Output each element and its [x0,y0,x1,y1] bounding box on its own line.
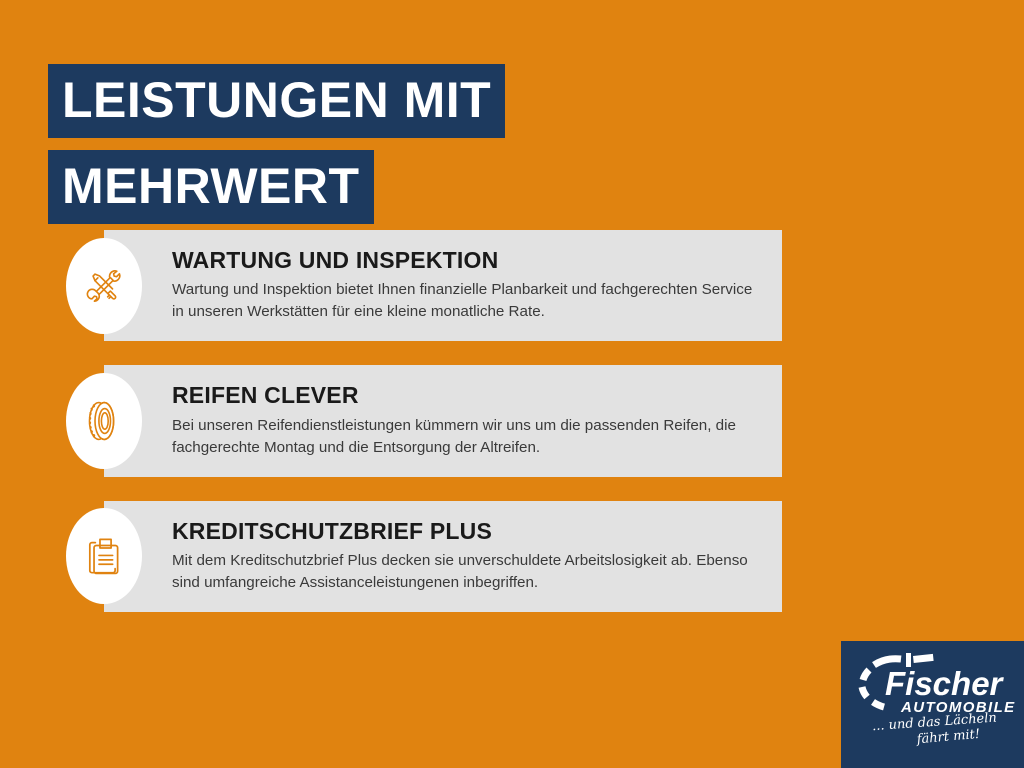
card-title: KREDITSCHUTZBRIEF PLUS [172,519,756,544]
slide-canvas: LEISTUNGEN MIT MEHRWERT [0,0,1024,768]
card-title: REIFEN CLEVER [172,383,756,408]
card-text: Mit dem Kreditschutzbrief Plus decken si… [172,550,756,594]
company-logo[interactable]: Fischer AUTOMOBILE ... und das Lächeln f… [841,641,1024,768]
card-title: WARTUNG UND INSPEKTION [172,248,756,273]
logo-brand-text: Fischer [885,665,1005,702]
service-card[interactable]: KREDITSCHUTZBRIEF PLUS Mit dem Kreditsch… [104,501,782,612]
logo-tagline: ... und das Lächeln fährt mit! [841,715,1024,748]
card-text: Bei unseren Reifendienstleistungen kümme… [172,415,756,459]
clipboard-icon [66,508,142,604]
headline-line-2: MEHRWERT [48,150,374,224]
card-text: Wartung und Inspektion bietet Ihnen fina… [172,279,756,323]
tire-icon [66,373,142,469]
page-title: LEISTUNGEN MIT MEHRWERT [48,64,505,224]
service-card-list: WARTUNG UND INSPEKTION Wartung und Inspe… [104,230,782,612]
tools-icon [66,238,142,334]
headline-line-1: LEISTUNGEN MIT [48,64,505,138]
service-card[interactable]: REIFEN CLEVER Bei unseren Reifendienstle… [104,365,782,476]
logo-wordmark: Fischer AUTOMOBILE [849,647,1021,717]
service-card[interactable]: WARTUNG UND INSPEKTION Wartung und Inspe… [104,230,782,341]
